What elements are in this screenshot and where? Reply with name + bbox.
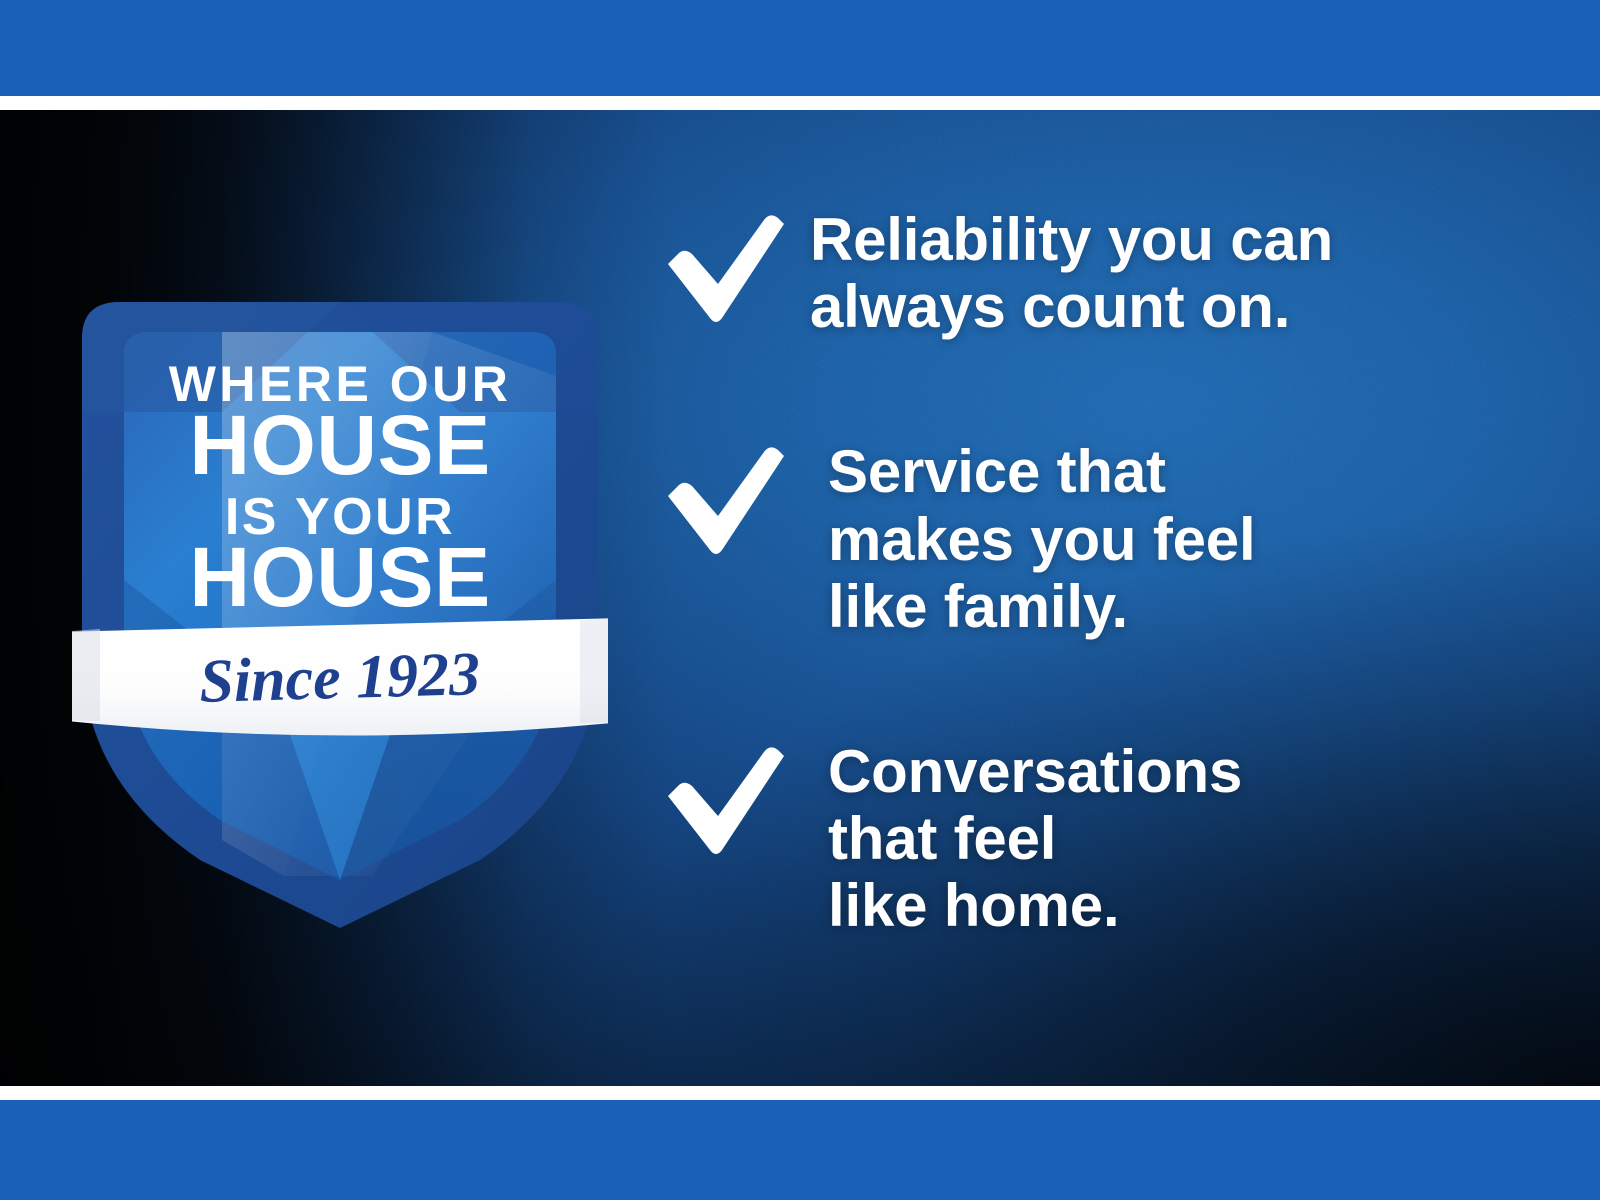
benefit-item-conversations: Conversations that feel like home.: [660, 732, 1540, 940]
checkmark-icon: [660, 208, 788, 328]
badge-ribbon-text: Since 1923: [198, 640, 481, 716]
benefits-list: Reliability you can always count on. Ser…: [660, 200, 1540, 940]
benefit-text: Service that makes you feel like family.: [828, 432, 1255, 640]
promo-graphic: WHERE OUR HOUSE IS YOUR HOUSE Since 1923: [0, 0, 1600, 1200]
checkmark-icon: [660, 740, 788, 860]
checkmark-icon: [660, 440, 788, 560]
top-accent-bar: [0, 0, 1600, 96]
benefit-text: Conversations that feel like home.: [828, 732, 1242, 940]
main-artwork-panel: WHERE OUR HOUSE IS YOUR HOUSE Since 1923: [0, 110, 1600, 1086]
benefit-text: Reliability you can always count on.: [810, 200, 1333, 340]
shield-badge: WHERE OUR HOUSE IS YOUR HOUSE Since 1923: [72, 280, 608, 930]
badge-line-2: HOUSE: [189, 398, 490, 492]
badge-line-4: HOUSE: [189, 530, 490, 624]
benefit-item-reliability: Reliability you can always count on.: [660, 200, 1540, 340]
bottom-accent-bar: [0, 1100, 1600, 1200]
benefit-item-service: Service that makes you feel like family.: [660, 432, 1540, 640]
